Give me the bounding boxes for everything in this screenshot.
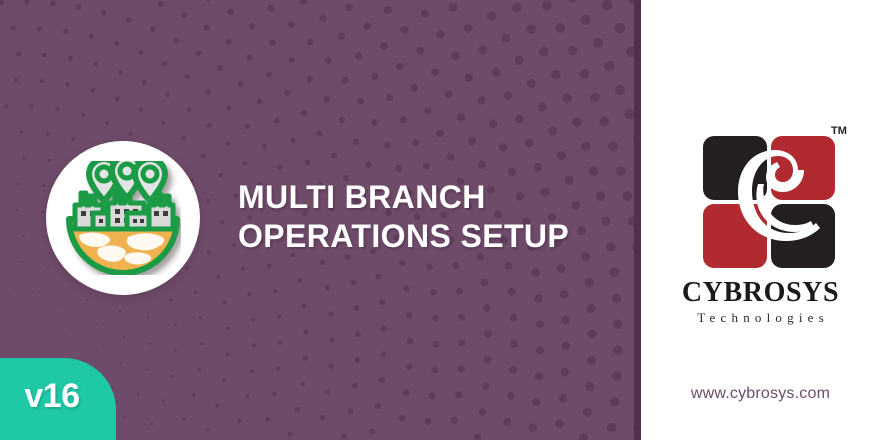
version-badge: v16 [0, 358, 116, 440]
multi-branch-globe-icon [65, 161, 181, 275]
trademark-symbol: TM [831, 125, 847, 137]
right-brand-panel: TM CYBROSYS Technologies www.cybrosys.co… [641, 0, 880, 440]
panel-edge-stripe [634, 0, 641, 440]
version-badge-label: v16 [0, 376, 104, 416]
website-url[interactable]: www.cybrosys.com [641, 384, 880, 404]
title-line-2: OPERATIONS SETUP [238, 217, 628, 256]
module-icon-circle [46, 141, 200, 295]
brand-name: CYBROSYS [641, 277, 880, 309]
promo-banner: MULTI BRANCH OPERATIONS SETUP v16 [0, 0, 880, 440]
left-purple-panel: MULTI BRANCH OPERATIONS SETUP v16 [0, 0, 634, 440]
cybrosys-logo: TM [695, 118, 850, 278]
logo-tile-bottom-left [703, 204, 767, 268]
banner-title: MULTI BRANCH OPERATIONS SETUP [238, 178, 628, 256]
title-line-1: MULTI BRANCH [238, 178, 628, 217]
brand-subtitle: Technologies [641, 309, 880, 326]
